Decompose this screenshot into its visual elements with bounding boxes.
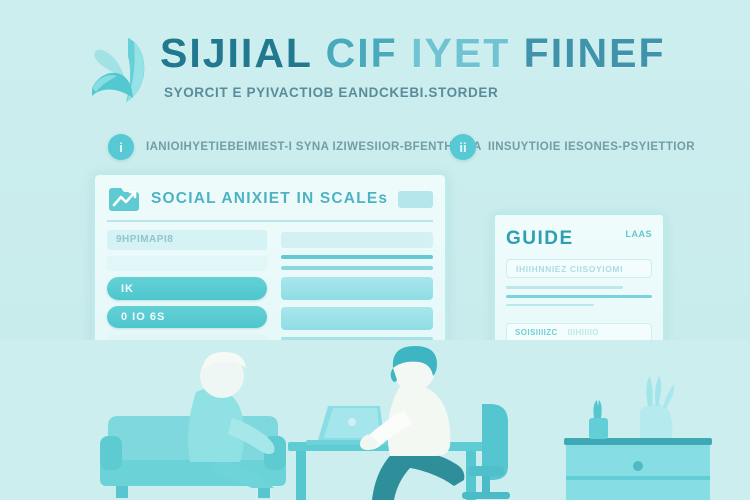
list-item[interactable] (107, 256, 267, 272)
title-part-2: CIF (326, 30, 398, 76)
tagline-text-1: IANIOIHYETIEBEIMIEST-I SYNA IZIWESIIOR-B… (146, 141, 482, 153)
header-chip (398, 191, 433, 208)
list-item[interactable]: IK (107, 277, 267, 300)
guide-search-input[interactable]: IHIIHNNIEZ CIISOYIOMI (506, 259, 652, 278)
placeholder-block[interactable] (281, 307, 433, 330)
abstract-leaf-logo (86, 26, 166, 112)
placeholder-bar (281, 232, 433, 248)
title-part-1: SIJIIAL (160, 30, 312, 76)
placeholder-bar (281, 255, 433, 259)
scales-card: SOCIAL ANIXIET IN SCALEs 9HPIMAPI8 IK 0 … (92, 172, 448, 354)
stamp-badge-icon: LAAS (626, 224, 653, 242)
tagline-row-1: i IANIOIHYETIEBEIMIEST-I SYNA IZIWESIIOR… (108, 134, 482, 160)
page-title: SIJIIAL CIF IYET FIINEF (160, 30, 665, 77)
guide-card-title: GUIDE (506, 228, 574, 250)
placeholder-block[interactable] (281, 277, 433, 300)
guide-footer-right: IIIHIIIIO (568, 328, 599, 337)
list-item[interactable]: 9HPIMAPI8 (107, 230, 267, 250)
tagline-text-2: IINSUYTIOIE IESONES-PSYIETTIOR (488, 141, 695, 153)
guide-card-header: GUIDE LAAS (506, 224, 652, 250)
placeholder-bar (506, 295, 652, 298)
scales-card-header: SOCIAL ANIXIET IN SCALEs (107, 185, 433, 222)
cabinet (564, 438, 712, 500)
title-part-3: IYET (411, 30, 510, 76)
scales-card-body: 9HPIMAPI8 IK 0 IO 6S (107, 230, 433, 350)
list-item[interactable]: 0 IO 6S (107, 306, 267, 329)
tagline-row-2: ii IINSUYTIOIE IESONES-PSYIETTIOR (450, 134, 695, 160)
people-circle-icon: ii (450, 134, 476, 160)
info-circle-icon: i (108, 134, 134, 160)
guide-footer-left: SOISIIIIZC (515, 328, 558, 337)
scales-right-column (281, 230, 433, 350)
title-part-4: FIINEF (524, 30, 666, 76)
therapy-session-illustration (0, 340, 750, 500)
illustration-canvas: SIJIIAL CIF IYET FIINEF SYORCIT E PYIVAC… (0, 0, 750, 500)
guide-text-lines (506, 286, 652, 306)
folder-chart-icon (107, 185, 141, 213)
guide-card: GUIDE LAAS IHIIHNNIEZ CIISOYIOMI SOISIII… (492, 212, 666, 354)
placeholder-bar (506, 286, 623, 289)
badge-label: LAAS (626, 229, 653, 239)
scales-card-title: SOCIAL ANIXIET IN SCALEs (151, 190, 388, 208)
page-subtitle: SYORCIT E PYIVACTIOB EANDCKEBI.STORDER (164, 85, 498, 100)
placeholder-bar (506, 304, 594, 307)
scales-left-column: 9HPIMAPI8 IK 0 IO 6S (107, 230, 267, 350)
placeholder-bar (281, 266, 433, 270)
